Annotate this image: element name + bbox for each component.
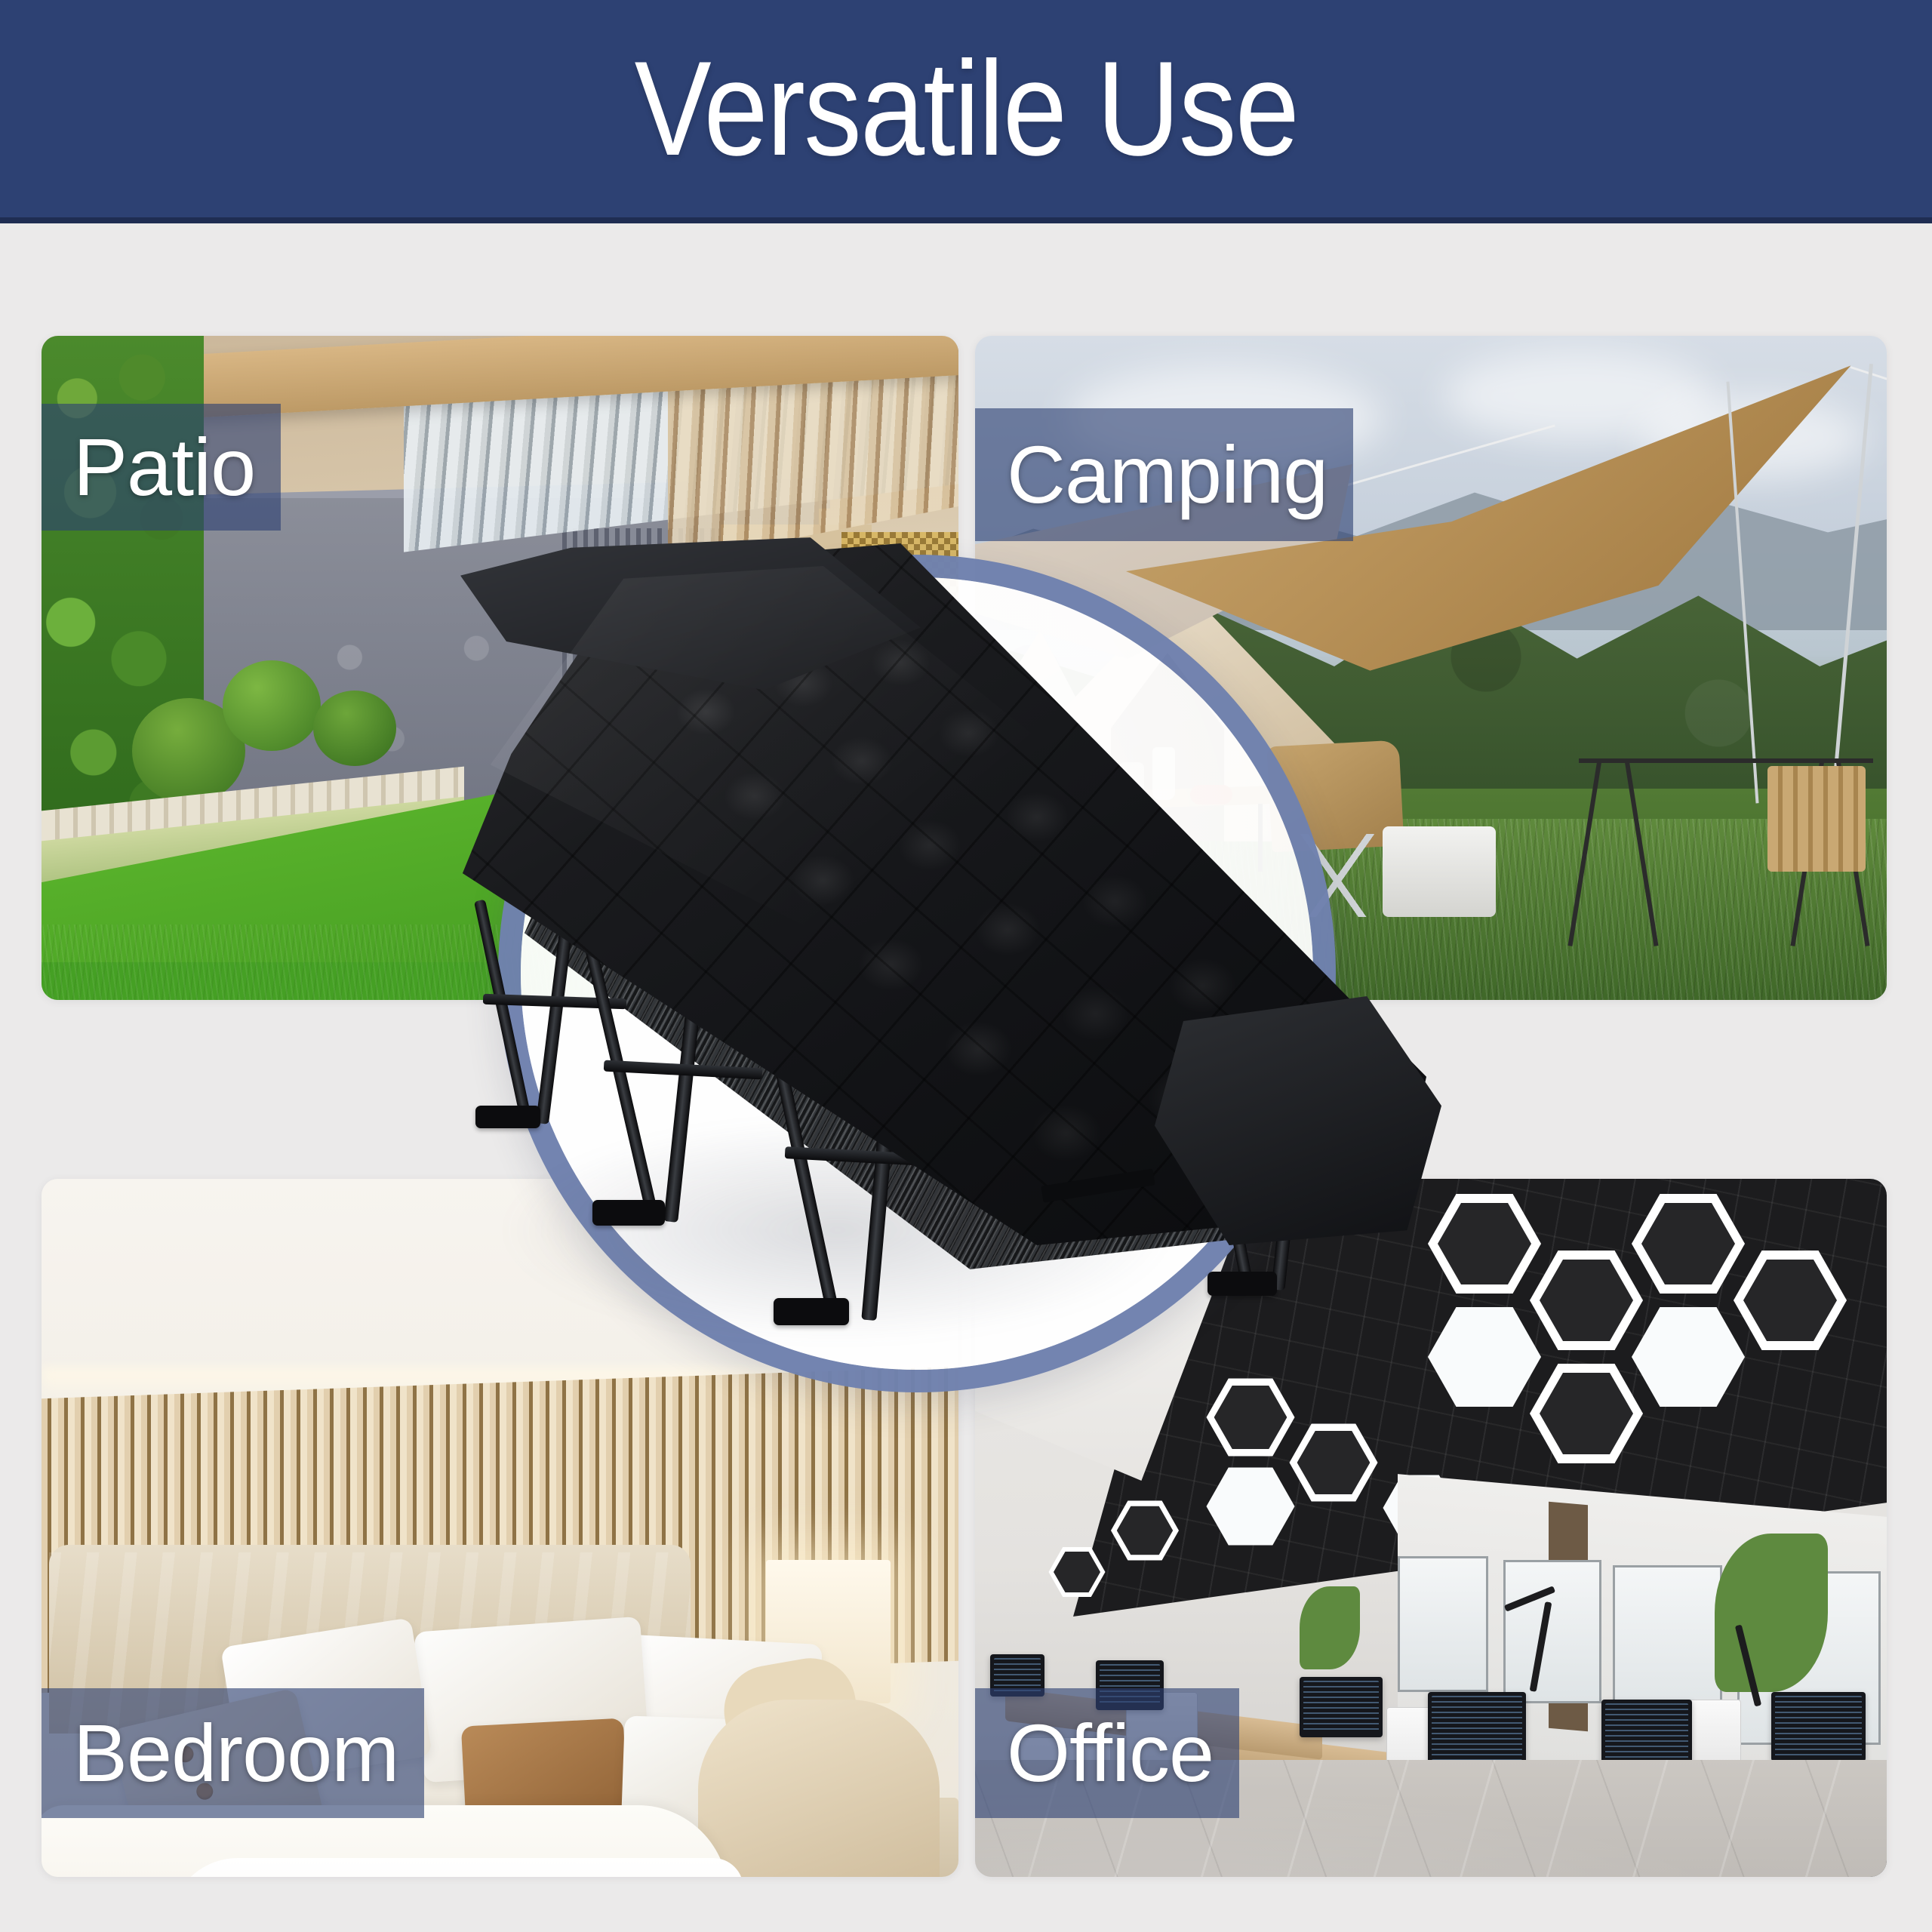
label-chip-camping: Camping: [975, 408, 1353, 541]
label-chip-patio: Patio: [42, 404, 281, 531]
quadrant-label-bedroom: Bedroom: [73, 1712, 398, 1794]
quadrant-label-patio: Patio: [73, 426, 255, 508]
office-plant: [1300, 1586, 1360, 1669]
product-infographic: Versatile Use: [0, 0, 1932, 1932]
office-window: [1613, 1565, 1722, 1720]
cot-foot-pad: [1207, 1272, 1277, 1296]
office-monitor: [1300, 1677, 1383, 1737]
camping-tool-roll: [1767, 766, 1866, 872]
office-window: [1503, 1560, 1601, 1703]
bedroom-armchair: [698, 1700, 940, 1877]
header-banner: Versatile Use: [0, 0, 1932, 223]
office-monitor: [1601, 1700, 1692, 1766]
office-window: [1398, 1556, 1488, 1692]
label-chip-bedroom: Bedroom: [42, 1688, 424, 1818]
bedroom-duvet-fold: [170, 1858, 743, 1877]
office-monitor: [1771, 1692, 1866, 1761]
label-chip-office: Office: [975, 1688, 1239, 1818]
camping-gear-rack: [1579, 758, 1873, 763]
office-monitor: [1428, 1692, 1526, 1764]
cot-foot-pad: [592, 1200, 665, 1226]
product-image-folding-cot: [453, 543, 1509, 1404]
quadrant-label-camping: Camping: [1007, 434, 1327, 515]
patio-shrub: [313, 691, 396, 766]
office-plant: [1715, 1534, 1828, 1692]
cot-foot-pad: [774, 1298, 849, 1325]
cot-foot-pad: [475, 1106, 540, 1128]
page-title: Versatile Use: [634, 42, 1298, 176]
quadrant-label-office: Office: [1007, 1712, 1214, 1794]
patio-shrub: [223, 660, 321, 751]
cot-leg: [474, 900, 531, 1116]
